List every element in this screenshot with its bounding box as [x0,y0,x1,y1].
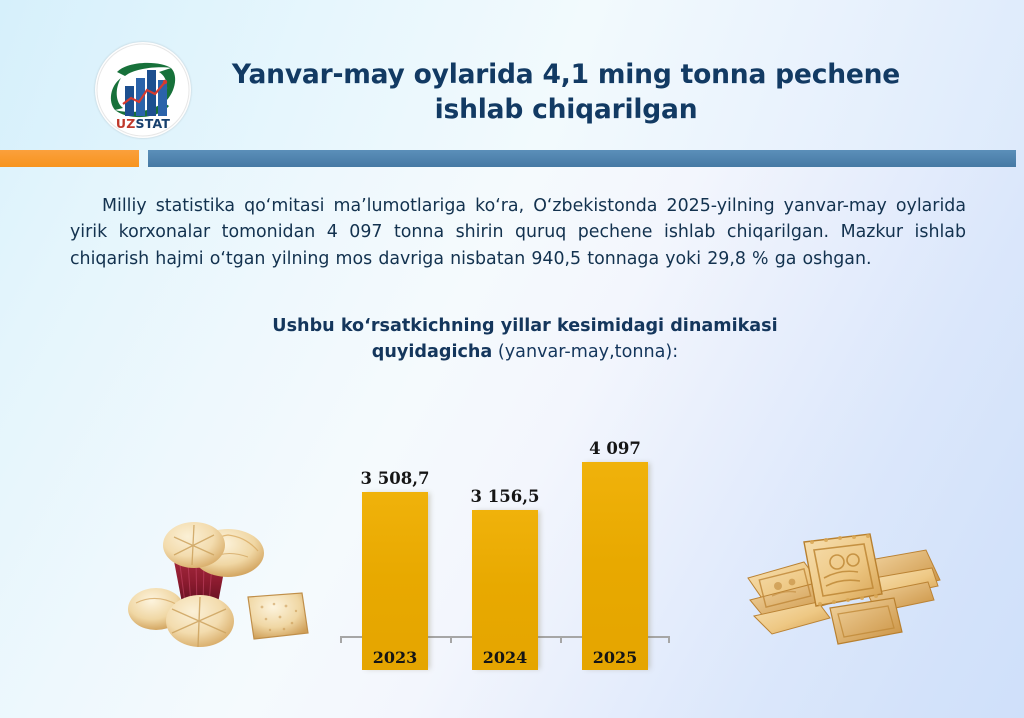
chart-bar-value-2024: 3 156,5 [450,487,560,506]
page-title: Yanvar-may oylarida 4,1 ming tonna peche… [196,58,936,128]
chart-bar-2025[interactable] [582,462,648,670]
chart-bar-group-2023: 3 508,7 [340,434,450,670]
chart-bar-group-2024: 3 156,5 [450,434,560,670]
chart-category-label-2023: 2023 [340,648,450,667]
chart-bar-2023[interactable] [362,492,428,670]
page-title-line-1: Yanvar-may oylarida 4,1 ming tonna peche… [232,59,900,90]
page-title-line-2: ishlab chiqarilgan [435,94,698,125]
logo-wordmark-stat: STAT [136,116,171,131]
infographic-page: UZSTAT Yanvar-may oylarida 4,1 ming tonn… [0,0,1024,718]
chart-bar-group-2025: 4 097 [560,434,670,670]
cookies-and-cupcake-photo [126,505,336,655]
chart-subtitle-line-1: Ushbu ko‘rsatkichning yillar kesimidagi … [272,316,777,336]
chart-bar-2024[interactable] [472,510,538,670]
accent-bar-orange [0,150,139,167]
uzstat-logo: UZSTAT [95,42,191,138]
square-biscuits-illustration-icon [742,520,962,670]
bar-chart: 3 508,7 2023 3 156,5 2024 4 097 2025 [336,400,674,672]
logo-wordmark: UZSTAT [95,118,191,131]
chart-category-label-2025: 2025 [560,648,670,667]
logo-wordmark-uz: UZ [116,116,136,131]
chart-subtitle-line-2: quyidagicha [372,342,493,362]
body-paragraph: Milliy statistika qo‘mitasi ma’lumotlari… [70,193,966,272]
cookies-and-cupcake-illustration-icon [126,505,336,655]
accent-bar-blue [148,150,1016,167]
chart-subtitle: Ushbu ko‘rsatkichning yillar kesimidagi … [130,314,920,365]
chart-subtitle-tail: (yanvar-may,tonna): [492,342,678,362]
chart-category-label-2024: 2024 [450,648,560,667]
header-banner: UZSTAT Yanvar-may oylarida 4,1 ming tonn… [0,0,1024,150]
stacked-square-biscuits-photo [742,520,962,670]
chart-bar-value-2023: 3 508,7 [340,469,450,488]
chart-bar-value-2025: 4 097 [560,439,670,458]
